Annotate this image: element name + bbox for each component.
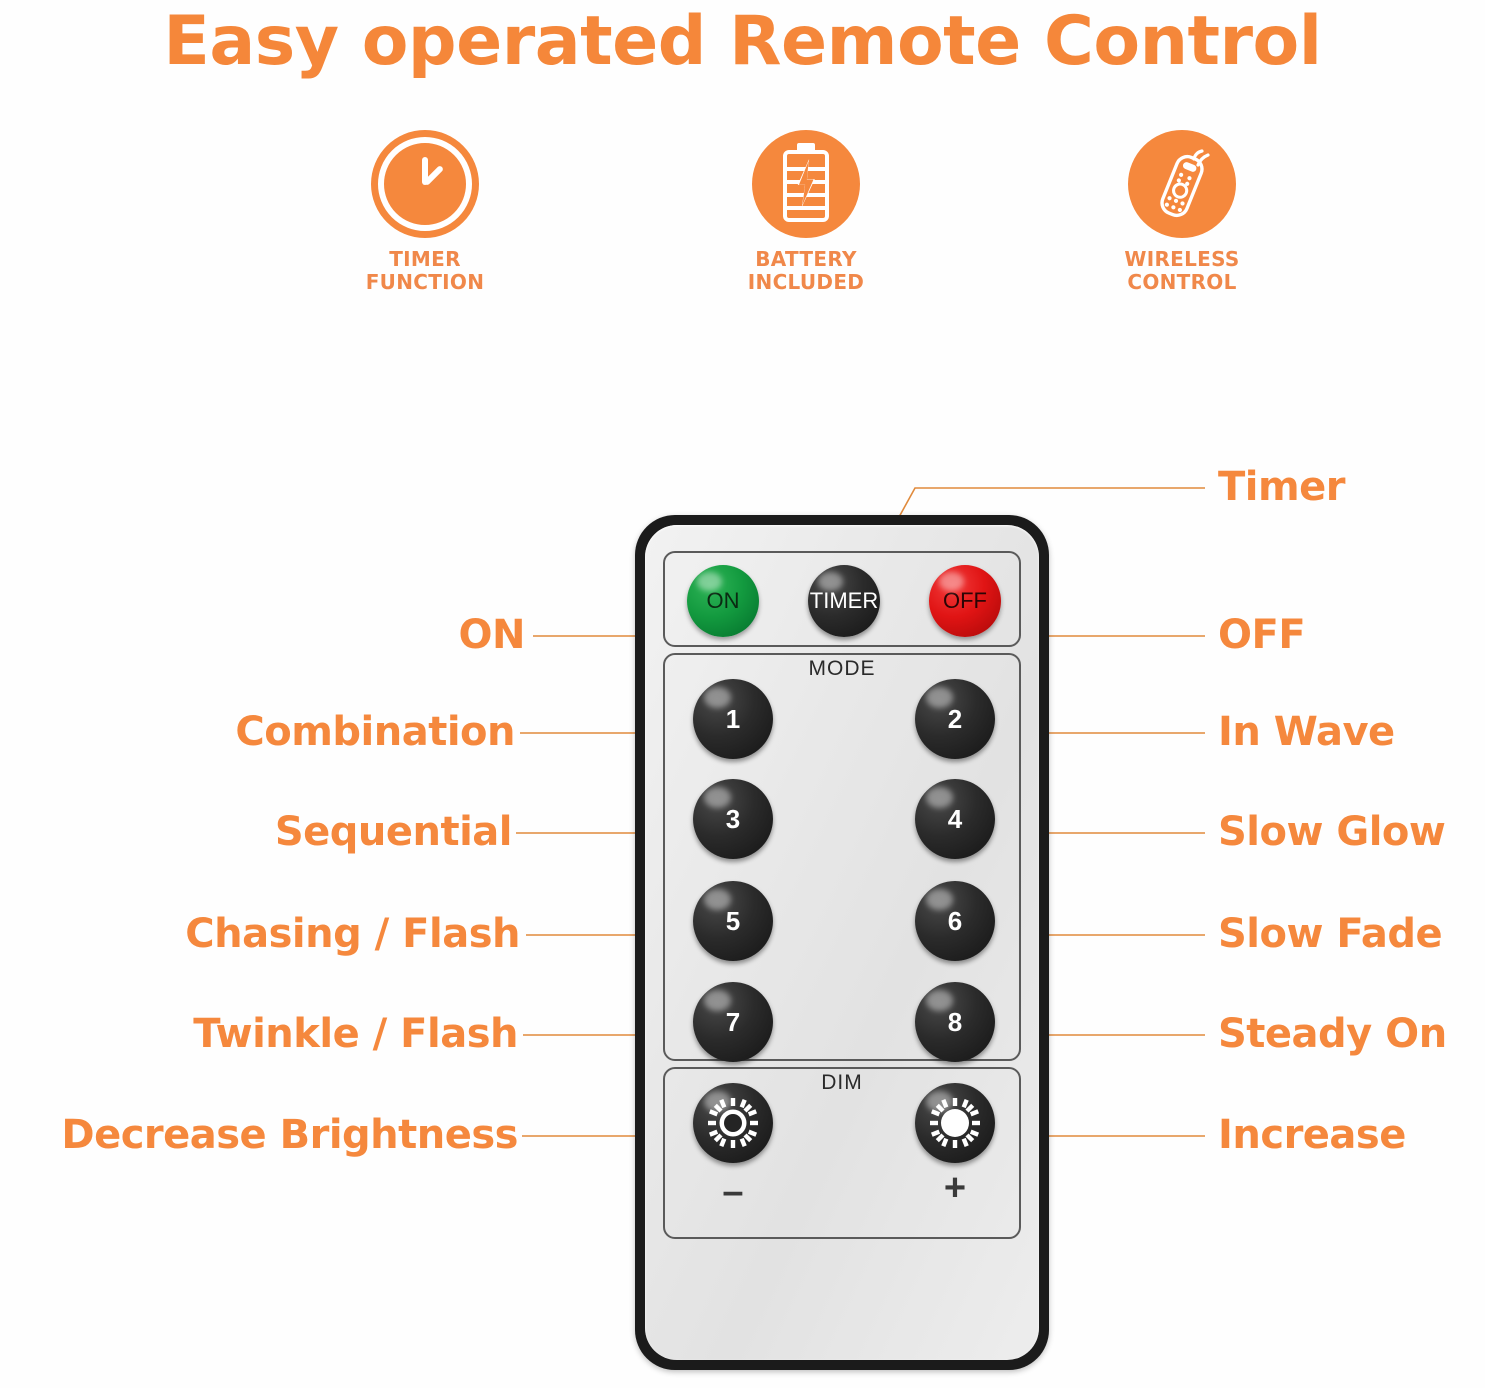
mode-button-5[interactable]: 5 [693,881,773,961]
mode-button-8[interactable]: 8 [915,982,995,1062]
mode-button-4[interactable]: 4 [915,779,995,859]
dim-minus-sign: – [719,1173,747,1211]
off-button[interactable]: OFF [929,565,1001,637]
mode-button-8-label: 8 [948,1007,962,1038]
mode-button-2-label: 2 [948,704,962,735]
dim-decrease-button[interactable] [693,1083,773,1163]
remote-control: ON TIMER OFF MODE 1 2 3 4 [635,515,1049,1370]
on-button[interactable]: ON [687,565,759,637]
brightness-high-icon [915,1083,995,1163]
power-panel: ON TIMER OFF [663,551,1021,647]
dim-increase-button[interactable] [915,1083,995,1163]
mode-button-7[interactable]: 7 [693,982,773,1062]
dim-panel: DIM [663,1067,1021,1239]
mode-button-2[interactable]: 2 [915,679,995,759]
mode-button-6[interactable]: 6 [915,881,995,961]
mode-panel-title: MODE [665,657,1019,681]
mode-button-3[interactable]: 3 [693,779,773,859]
off-button-label: OFF [943,588,987,614]
dim-plus-sign: + [941,1169,969,1207]
mode-panel: MODE 1 2 3 4 5 6 7 8 [663,653,1021,1061]
mode-button-3-label: 3 [726,804,740,835]
mode-button-1[interactable]: 1 [693,679,773,759]
brightness-low-icon [693,1083,773,1163]
mode-button-1-label: 1 [726,704,740,735]
remote-face: ON TIMER OFF MODE 1 2 3 4 [645,525,1039,1360]
mode-button-7-label: 7 [726,1007,740,1038]
mode-button-6-label: 6 [948,906,962,937]
mode-button-5-label: 5 [726,906,740,937]
on-button-label: ON [707,588,740,614]
timer-button-label: TIMER [810,588,878,614]
timer-button[interactable]: TIMER [808,565,880,637]
mode-button-4-label: 4 [948,804,962,835]
